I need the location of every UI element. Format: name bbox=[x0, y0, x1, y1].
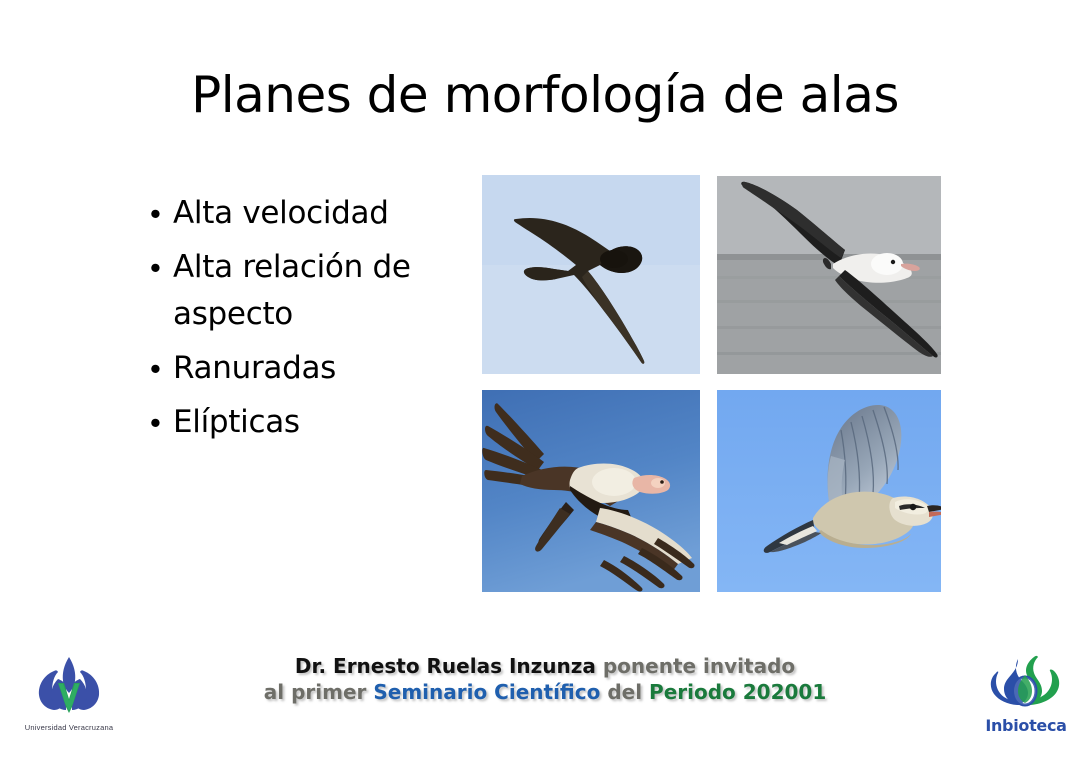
list-item: • Alta relación de aspecto bbox=[146, 244, 466, 338]
credit-line-1: Dr. Ernesto Ruelas Inzunza ponente invit… bbox=[0, 653, 1090, 679]
list-item-label: Ranuradas bbox=[173, 345, 466, 392]
photo-albatross-high-aspect-ratio-wing bbox=[717, 176, 941, 374]
presentation-slide: Planes de morfología de alas • Alta velo… bbox=[0, 0, 1090, 760]
bullet-marker-icon: • bbox=[146, 345, 173, 392]
page-title: Planes de morfología de alas bbox=[0, 66, 1090, 124]
universidad-veracruzana-caption: Universidad Veracruzana bbox=[14, 723, 124, 732]
bullet-marker-icon: • bbox=[146, 190, 173, 237]
event-prefix: al primer bbox=[264, 680, 374, 704]
photo-vulture-slotted-wing bbox=[482, 390, 700, 592]
speaker-role: ponente invitado bbox=[596, 654, 795, 678]
list-item: • Ranuradas bbox=[146, 345, 466, 392]
photo-kingbird-elliptical-wing bbox=[717, 390, 941, 592]
list-item-label: Alta relación de aspecto bbox=[173, 244, 466, 338]
bullet-marker-icon: • bbox=[146, 399, 173, 446]
footer-credit: Dr. Ernesto Ruelas Inzunza ponente invit… bbox=[0, 653, 1090, 705]
list-item-label: Elípticas bbox=[173, 399, 466, 446]
event-connector: del bbox=[600, 680, 649, 704]
bullet-list: • Alta velocidad • Alta relación de aspe… bbox=[146, 190, 466, 453]
list-item: • Alta velocidad bbox=[146, 190, 466, 237]
bullet-marker-icon: • bbox=[146, 244, 173, 291]
credit-line-2: al primer Seminario Científico del Perio… bbox=[0, 679, 1090, 705]
universidad-veracruzana-logo: Universidad Veracruzana bbox=[14, 655, 124, 737]
list-item-label: Alta velocidad bbox=[173, 190, 466, 237]
fleur-de-lis-icon bbox=[14, 655, 124, 717]
event-name: Seminario Científico bbox=[373, 680, 600, 704]
photo-swift-high-speed-wing bbox=[482, 175, 700, 374]
speaker-name: Dr. Ernesto Ruelas Inzunza bbox=[295, 654, 596, 678]
inbioteca-flame-icon bbox=[972, 653, 1080, 711]
photo-grid bbox=[482, 175, 941, 592]
inbioteca-caption: Inbioteca bbox=[972, 716, 1080, 735]
list-item: • Elípticas bbox=[146, 399, 466, 446]
inbioteca-logo: Inbioteca bbox=[972, 653, 1080, 737]
event-period: Periodo 202001 bbox=[649, 680, 826, 704]
